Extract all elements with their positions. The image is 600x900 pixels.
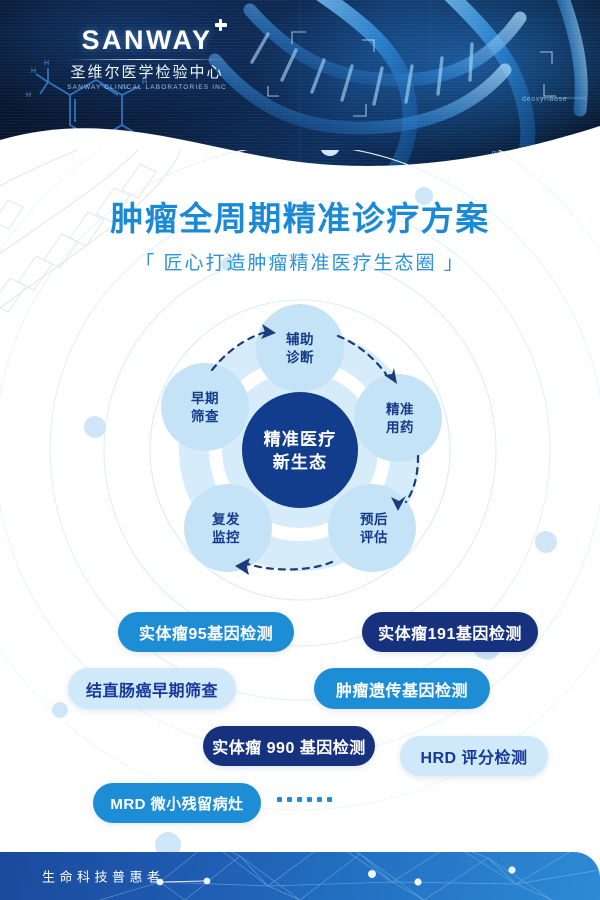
ellipsis-more-indicator (277, 797, 332, 802)
pill-colorectal-early-screening[interactable]: 结直肠癌早期筛查 (68, 668, 236, 709)
cycle-center-circle (242, 392, 358, 508)
page-title: 肿瘤全周期精准诊疗方案 (0, 200, 600, 239)
title-block: 肿瘤全周期精准诊疗方案 「 匠心打造肿瘤精准医疗生态圈 」 (0, 200, 600, 275)
cycle-node-label: 早期 (191, 391, 219, 406)
pill-mrd-residual-disease[interactable]: MRD 微小残留病灶 (93, 783, 261, 823)
cycle-node-label: 预后 (360, 511, 388, 527)
cycle-node-early-screening[interactable] (161, 363, 249, 451)
poster-footer: 生命科技普惠者 (0, 852, 600, 900)
cycle-node-label: 复发 (211, 511, 240, 527)
cycle-center-label-line1: 精准医疗 (264, 429, 337, 449)
cycle-node-label: 诊断 (286, 349, 314, 365)
page-subtitle: 「 匠心打造肿瘤精准医疗生态圈 」 (0, 248, 600, 275)
pill-solid-tumor-191[interactable]: 实体瘤191基因检测 (362, 612, 538, 652)
cycle-node-label: 监控 (212, 529, 240, 545)
precision-medicine-cycle-diagram: 辅助 诊断 精准 用药 预后 评估 复发 监控 早期 筛查 精准医疗 新生态 (150, 300, 450, 600)
pill-hrd-score[interactable]: HRD 评分检测 (400, 736, 548, 776)
cycle-node-assisted-diagnosis[interactable] (256, 304, 344, 392)
brand-name-cn: 圣维尔医学检验中心 (52, 64, 242, 82)
pill-solid-tumor-990[interactable]: 实体瘤 990 基因检测 (203, 726, 375, 766)
cycle-node-prognosis-evaluation[interactable] (328, 484, 416, 572)
pill-hereditary-tumor-gene[interactable]: 肿瘤遗传基因检测 (314, 668, 490, 709)
poster-root: deoxyribose guanine (0, 0, 600, 900)
cycle-node-label: 精准 (386, 401, 414, 417)
cycle-node-label: 辅助 (286, 331, 314, 347)
cycle-node-label: 筛查 (191, 408, 219, 424)
pill-solid-tumor-95[interactable]: 实体瘤95基因检测 (118, 612, 294, 652)
cycle-node-precision-medication[interactable] (354, 374, 442, 462)
brand-name-en: SANWAY CLINICAL LABORATORIES INC (52, 84, 242, 91)
medical-cross-icon (215, 19, 227, 31)
brand-logo: SANWAY 圣维尔医学检验中心 SANWAY CLINICAL LABORAT… (52, 27, 242, 91)
cycle-node-label: 用药 (386, 419, 414, 435)
poster-header: deoxyribose guanine (0, 0, 600, 175)
cycle-node-label: 评估 (360, 529, 388, 545)
cycle-node-recurrence-monitoring[interactable] (184, 484, 272, 572)
brand-wordmark: SANWAY (81, 27, 212, 54)
cycle-center-label-line2: 新生态 (273, 452, 328, 472)
logo-divider (67, 59, 227, 60)
footer-slogan: 生命科技普惠者 (42, 867, 165, 886)
